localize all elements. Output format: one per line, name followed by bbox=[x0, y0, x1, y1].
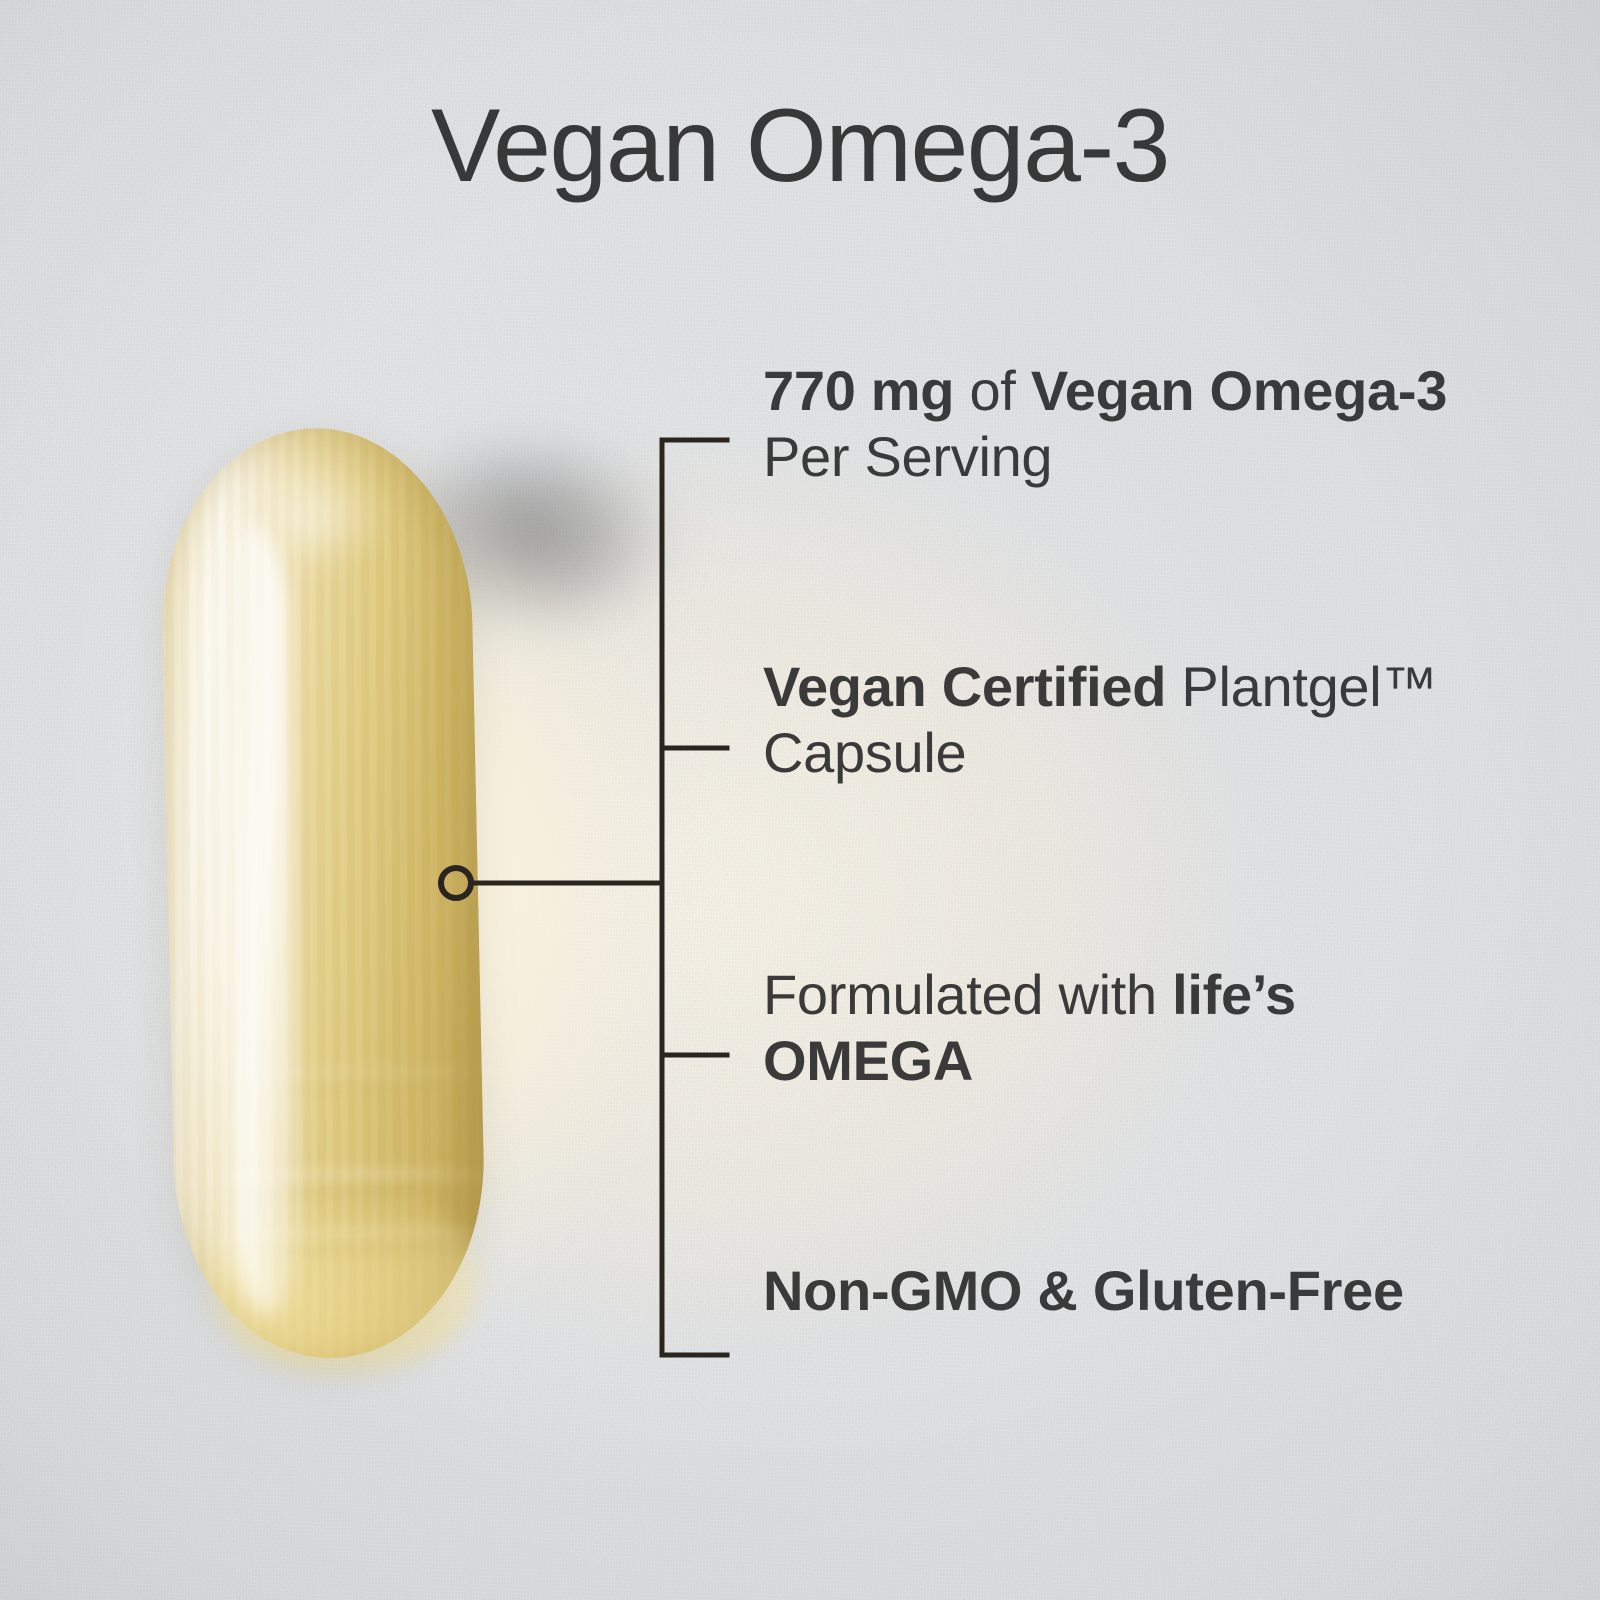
callout-segment: Formulated with bbox=[763, 963, 1172, 1026]
callout-item: Non-GMO & Gluten-Free bbox=[763, 1258, 1503, 1324]
callout-item: Formulated with life’s OMEGA bbox=[763, 962, 1503, 1093]
callout-item: 770 mg of Vegan Omega-3 Per Serving bbox=[763, 358, 1503, 489]
callout-segment: Non-GMO & Gluten-Free bbox=[763, 1259, 1404, 1322]
callout-segment: of bbox=[969, 359, 1030, 422]
product-infographic: Vegan Omega-3 770 mg of Vegan Omega-3 Pe… bbox=[0, 0, 1600, 1600]
callout-segment: Vegan Omega-3 bbox=[1031, 359, 1447, 422]
callout-segment: Per Serving bbox=[763, 425, 1052, 488]
callout-segment: Vegan Certified bbox=[763, 655, 1166, 718]
callout-item: Vegan Certified Plantgel™ Capsule bbox=[763, 654, 1503, 785]
callout-bracket bbox=[0, 0, 1600, 1600]
circle-marker bbox=[441, 868, 471, 898]
callout-segment: 770 mg bbox=[763, 359, 969, 422]
